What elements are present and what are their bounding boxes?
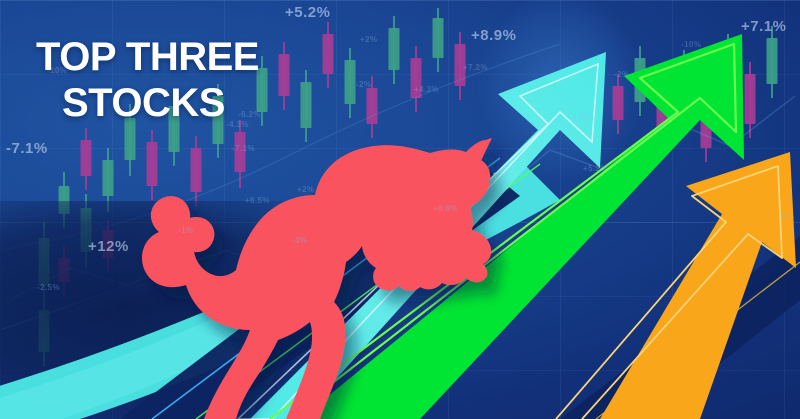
title-line-2: STOCKS bbox=[36, 80, 259, 126]
stock-banner-image: +5.2%+8.9%+7.1%-7.1%+12% -10%-7.1%+2%-2%… bbox=[0, 0, 800, 419]
title-line-1: TOP THREE bbox=[36, 35, 259, 79]
page-title: TOP THREE STOCKS bbox=[36, 34, 259, 127]
